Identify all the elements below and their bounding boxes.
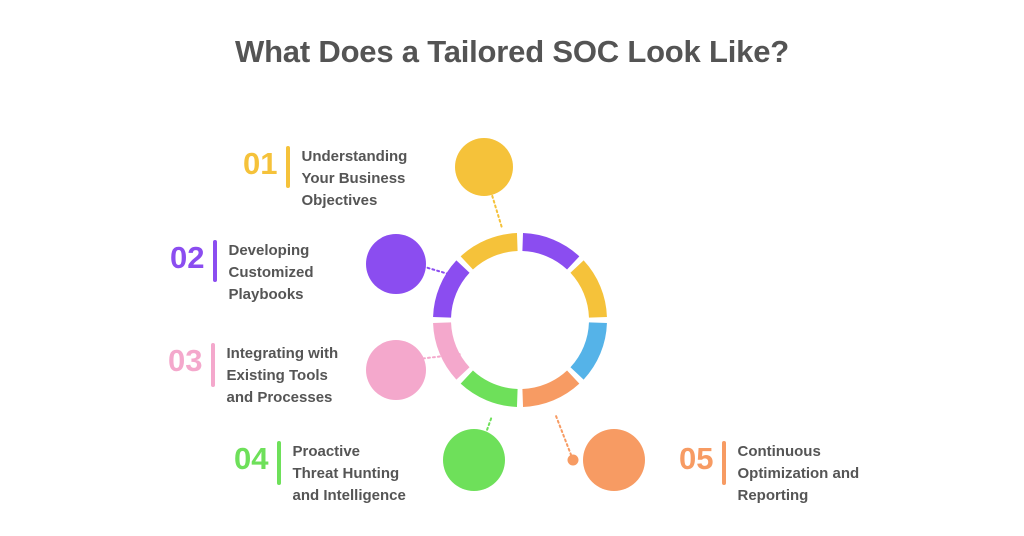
step-label-04: Proactive Threat Hunting and Intelligenc… — [292, 441, 405, 508]
step-number-04: 04 — [234, 441, 268, 474]
ring-segment-3 — [577, 323, 598, 374]
step-label-05: Continuous Optimization and Reporting — [737, 441, 859, 508]
step-label-03: Integrating with Existing Tools and Proc… — [226, 343, 338, 410]
connector-dot-05 — [568, 455, 579, 466]
purple-bubble — [366, 234, 426, 294]
step-divider-05 — [722, 441, 726, 485]
step-label-01: Understanding Your Business Objectives — [301, 146, 407, 213]
ring-segment-5 — [467, 377, 517, 398]
page-title: What Does a Tailored SOC Look Like? — [0, 34, 1024, 70]
orange-bubble — [583, 429, 645, 491]
pink-bubble — [366, 340, 426, 400]
step-label-02: Developing Customized Playbooks — [228, 240, 313, 307]
ring-segment-4 — [523, 377, 573, 398]
step-number-02: 02 — [170, 240, 204, 273]
step-divider-02 — [213, 240, 217, 282]
ring-segment-1 — [523, 242, 574, 263]
step-divider-04 — [277, 441, 281, 485]
step-item-03: 03 Integrating with Existing Tools and P… — [168, 343, 338, 410]
step-item-02: 02 Developing Customized Playbooks — [170, 240, 314, 307]
step-number-01: 01 — [243, 146, 277, 179]
step-number-03: 03 — [168, 343, 202, 376]
ring-segment-8 — [467, 242, 517, 263]
step-divider-03 — [211, 343, 215, 387]
step-item-01: 01 Understanding Your Business Objective… — [243, 146, 407, 213]
ring-segment-6 — [442, 323, 463, 374]
step-divider-01 — [286, 146, 290, 188]
step-item-04: 04 Proactive Threat Hunting and Intellig… — [234, 441, 406, 508]
step-item-05: 05 Continuous Optimization and Reporting — [679, 441, 859, 508]
green-bubble — [443, 429, 505, 491]
donut-segments — [442, 242, 598, 398]
ring-segment-7 — [442, 267, 463, 318]
connector-line-05 — [556, 416, 573, 460]
infographic-canvas: What Does a Tailored SOC Look Like? — [0, 0, 1024, 536]
ring-segment-2 — [577, 267, 598, 318]
step-number-05: 05 — [679, 441, 713, 474]
yellow-bubble — [455, 138, 513, 196]
